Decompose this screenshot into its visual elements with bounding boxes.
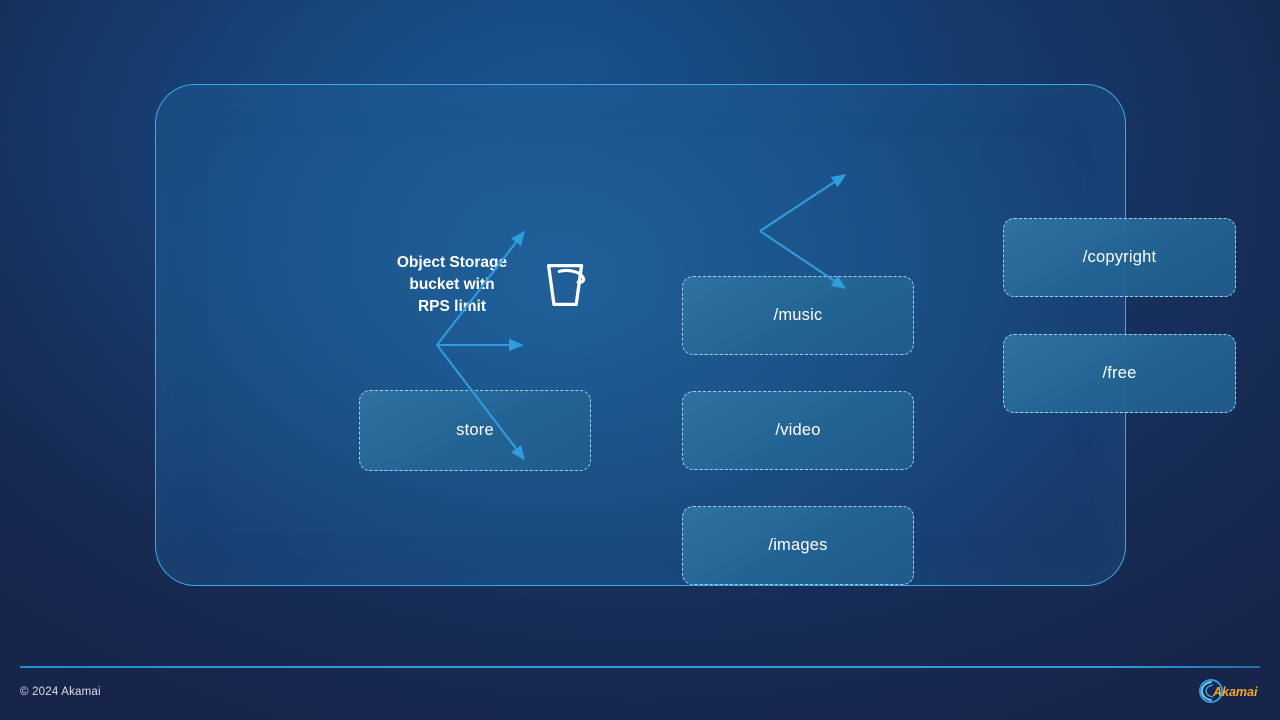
node-images-label: /images: [768, 536, 827, 555]
bucket-icon: [536, 254, 598, 316]
diagram-panel: Object Storage bucket with RPS limit sto…: [155, 84, 1126, 586]
footer-divider: [20, 666, 1260, 668]
node-free-label: /free: [1102, 364, 1136, 383]
node-music[interactable]: /music: [682, 276, 914, 355]
node-video-label: /video: [775, 421, 820, 440]
node-video[interactable]: /video: [682, 391, 914, 470]
node-images[interactable]: /images: [682, 506, 914, 585]
node-copyright-label: /copyright: [1083, 248, 1157, 267]
svg-text:Akamai: Akamai: [1212, 685, 1258, 699]
object-storage-bucket-group: Object Storage bucket with RPS limit: [382, 245, 612, 325]
node-free[interactable]: /free: [1003, 334, 1236, 413]
footer-copyright: © 2024 Akamai: [20, 686, 101, 698]
object-storage-bucket-label: Object Storage bucket with RPS limit: [382, 252, 522, 318]
node-copyright[interactable]: /copyright: [1003, 218, 1236, 297]
akamai-logo: Akamai: [1196, 678, 1262, 704]
node-store-label: store: [456, 421, 494, 440]
node-store[interactable]: store: [359, 390, 591, 471]
node-music-label: /music: [774, 306, 823, 325]
